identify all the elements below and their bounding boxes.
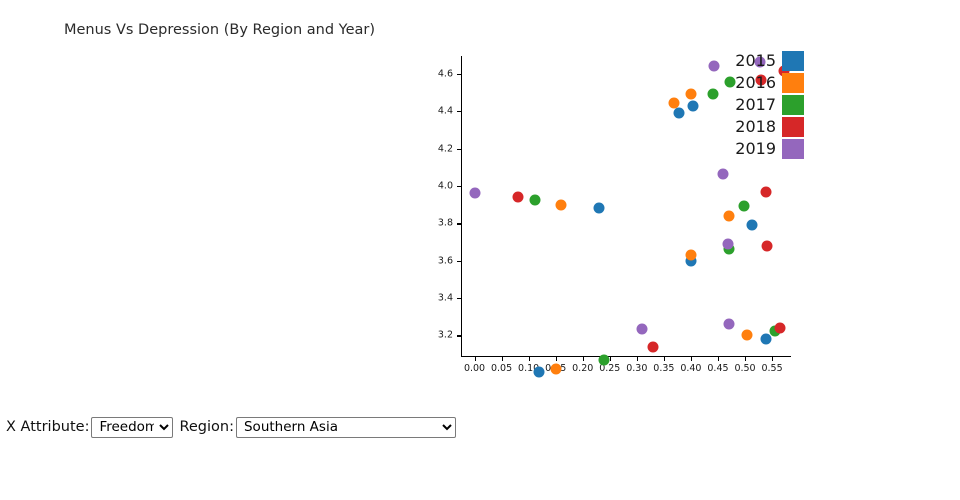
data-point	[637, 324, 648, 335]
data-point	[760, 334, 771, 345]
y-tick-mark	[457, 186, 461, 187]
x-tick-mark	[691, 357, 692, 361]
y-tick-mark	[457, 223, 461, 224]
x-tick-label: 0.05	[491, 363, 512, 374]
data-point	[674, 108, 685, 119]
y-tick-label: 3.6	[425, 255, 453, 266]
x-tick-label: 0.30	[626, 363, 647, 374]
x-tick-mark	[502, 357, 503, 361]
x-tick-label: 0.50	[734, 363, 755, 374]
data-point	[688, 100, 699, 111]
y-tick-label: 4.2	[425, 143, 453, 154]
legend-color-swatch	[782, 95, 804, 115]
legend-label: 2018	[735, 119, 776, 135]
data-point	[775, 322, 786, 333]
x-tick-mark	[610, 357, 611, 361]
x-tick-label: 0.20	[572, 363, 593, 374]
y-tick-label: 3.4	[425, 293, 453, 304]
x-tick-mark	[556, 357, 557, 361]
data-point	[685, 250, 696, 261]
data-point	[723, 210, 734, 221]
data-point	[707, 88, 718, 99]
legend-item: 2015	[718, 50, 804, 72]
x-tick-label: 0.35	[653, 363, 674, 374]
data-point	[593, 203, 604, 214]
data-point	[534, 366, 545, 377]
y-tick-mark	[457, 335, 461, 336]
data-point	[738, 201, 749, 212]
legend-item: 2016	[718, 72, 804, 94]
x-tick-mark	[772, 357, 773, 361]
data-point	[760, 186, 771, 197]
data-point	[746, 220, 757, 231]
y-tick-label: 4.0	[425, 180, 453, 191]
data-point	[722, 238, 733, 249]
region-label: Region:	[173, 419, 236, 435]
x-tick-mark	[718, 357, 719, 361]
x-attribute-label: X Attribute:	[0, 419, 91, 435]
x-tick-mark	[475, 357, 476, 361]
legend-item: 2017	[718, 94, 804, 116]
legend-label: 2016	[735, 75, 776, 91]
data-point	[550, 364, 561, 375]
data-point	[599, 354, 610, 365]
data-point	[741, 330, 752, 341]
legend-label: 2017	[735, 97, 776, 113]
x-tick-mark	[664, 357, 665, 361]
controls-bar: X Attribute: Freedom Region: Southern As…	[0, 412, 960, 442]
legend-color-swatch	[782, 117, 804, 137]
legend-color-swatch	[782, 73, 804, 93]
data-point	[556, 199, 567, 210]
y-tick-mark	[457, 111, 461, 112]
y-tick-label: 3.8	[425, 218, 453, 229]
x-tick-mark	[745, 357, 746, 361]
data-point	[648, 341, 659, 352]
y-tick-mark	[457, 298, 461, 299]
data-point	[685, 89, 696, 100]
data-point	[512, 192, 523, 203]
x-tick-label: 0.45	[707, 363, 728, 374]
region-select[interactable]: Southern Asia	[236, 417, 456, 438]
legend-item: 2018	[718, 116, 804, 138]
data-point	[668, 98, 679, 109]
legend: 20152016201720182019	[718, 50, 804, 160]
y-tick-label: 4.6	[425, 68, 453, 79]
legend-label: 2019	[735, 141, 776, 157]
y-axis-line	[461, 56, 462, 356]
x-tick-mark	[637, 357, 638, 361]
legend-item: 2019	[718, 138, 804, 160]
x-tick-label: 0.40	[680, 363, 701, 374]
data-point	[723, 318, 734, 329]
x-attribute-select[interactable]: Freedom	[91, 417, 173, 438]
x-tick-label: 0.55	[761, 363, 782, 374]
y-tick-label: 4.4	[425, 106, 453, 117]
y-tick-mark	[457, 261, 461, 262]
x-tick-mark	[529, 357, 530, 361]
x-axis-line	[461, 356, 791, 357]
data-point	[469, 188, 480, 199]
scatter-plot: 0.000.050.100.150.200.250.300.350.400.45…	[0, 0, 960, 400]
legend-color-swatch	[782, 51, 804, 71]
x-tick-label: 0.00	[464, 363, 485, 374]
legend-color-swatch	[782, 139, 804, 159]
data-point	[530, 195, 541, 206]
y-tick-label: 3.2	[425, 330, 453, 341]
y-tick-mark	[457, 74, 461, 75]
data-point	[718, 169, 729, 180]
x-tick-mark	[583, 357, 584, 361]
y-tick-mark	[457, 149, 461, 150]
data-point	[761, 240, 772, 251]
legend-label: 2015	[735, 53, 776, 69]
